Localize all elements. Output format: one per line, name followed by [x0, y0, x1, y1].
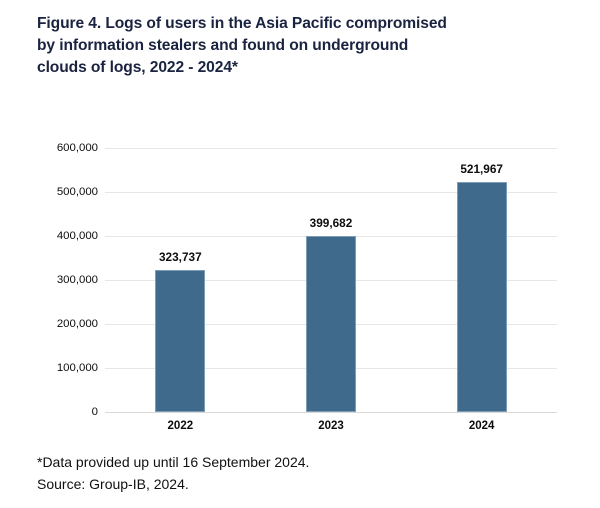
bar[interactable]	[306, 236, 356, 412]
y-axis-tick-label: 400,000	[26, 230, 98, 242]
figure-title-line-2: by information stealers and found on und…	[37, 35, 565, 57]
y-axis: 0100,000200,000300,000400,000500,000600,…	[20, 148, 98, 412]
figure-title: Figure 4. Logs of users in the Asia Paci…	[37, 13, 565, 79]
gridline	[105, 412, 557, 413]
bar-value-label: 399,682	[310, 216, 353, 230]
bar-value-label: 323,737	[159, 250, 202, 264]
bar-group: 521,9672024	[406, 148, 557, 412]
bar-group: 399,6822023	[256, 148, 407, 412]
footnote-source: Source: Group-IB, 2024.	[37, 474, 567, 496]
figure-title-line-1: Figure 4. Logs of users in the Asia Paci…	[37, 13, 565, 35]
footnotes: *Data provided up until 16 September 202…	[37, 452, 567, 495]
y-axis-tick-label: 200,000	[26, 318, 98, 330]
y-axis-tick-label: 600,000	[26, 142, 98, 154]
y-axis-tick-label: 100,000	[26, 362, 98, 374]
figure-title-line-3: clouds of logs, 2022 - 2024*	[37, 57, 565, 79]
bar[interactable]	[155, 270, 205, 412]
plot-area: 323,7372022399,6822023521,9672024	[105, 148, 557, 412]
x-axis-category-label: 2023	[318, 420, 344, 432]
y-axis-tick-label: 300,000	[26, 274, 98, 286]
bar-chart: 0100,000200,000300,000400,000500,000600,…	[0, 120, 600, 440]
x-axis-category-label: 2022	[168, 420, 194, 432]
footnote-data-note: *Data provided up until 16 September 202…	[37, 452, 567, 474]
y-axis-tick-label: 0	[26, 406, 98, 418]
bar[interactable]	[457, 182, 507, 412]
bar-value-label: 521,967	[460, 162, 503, 176]
y-axis-tick-label: 500,000	[26, 186, 98, 198]
bar-group: 323,7372022	[105, 148, 256, 412]
x-axis-category-label: 2024	[469, 420, 495, 432]
